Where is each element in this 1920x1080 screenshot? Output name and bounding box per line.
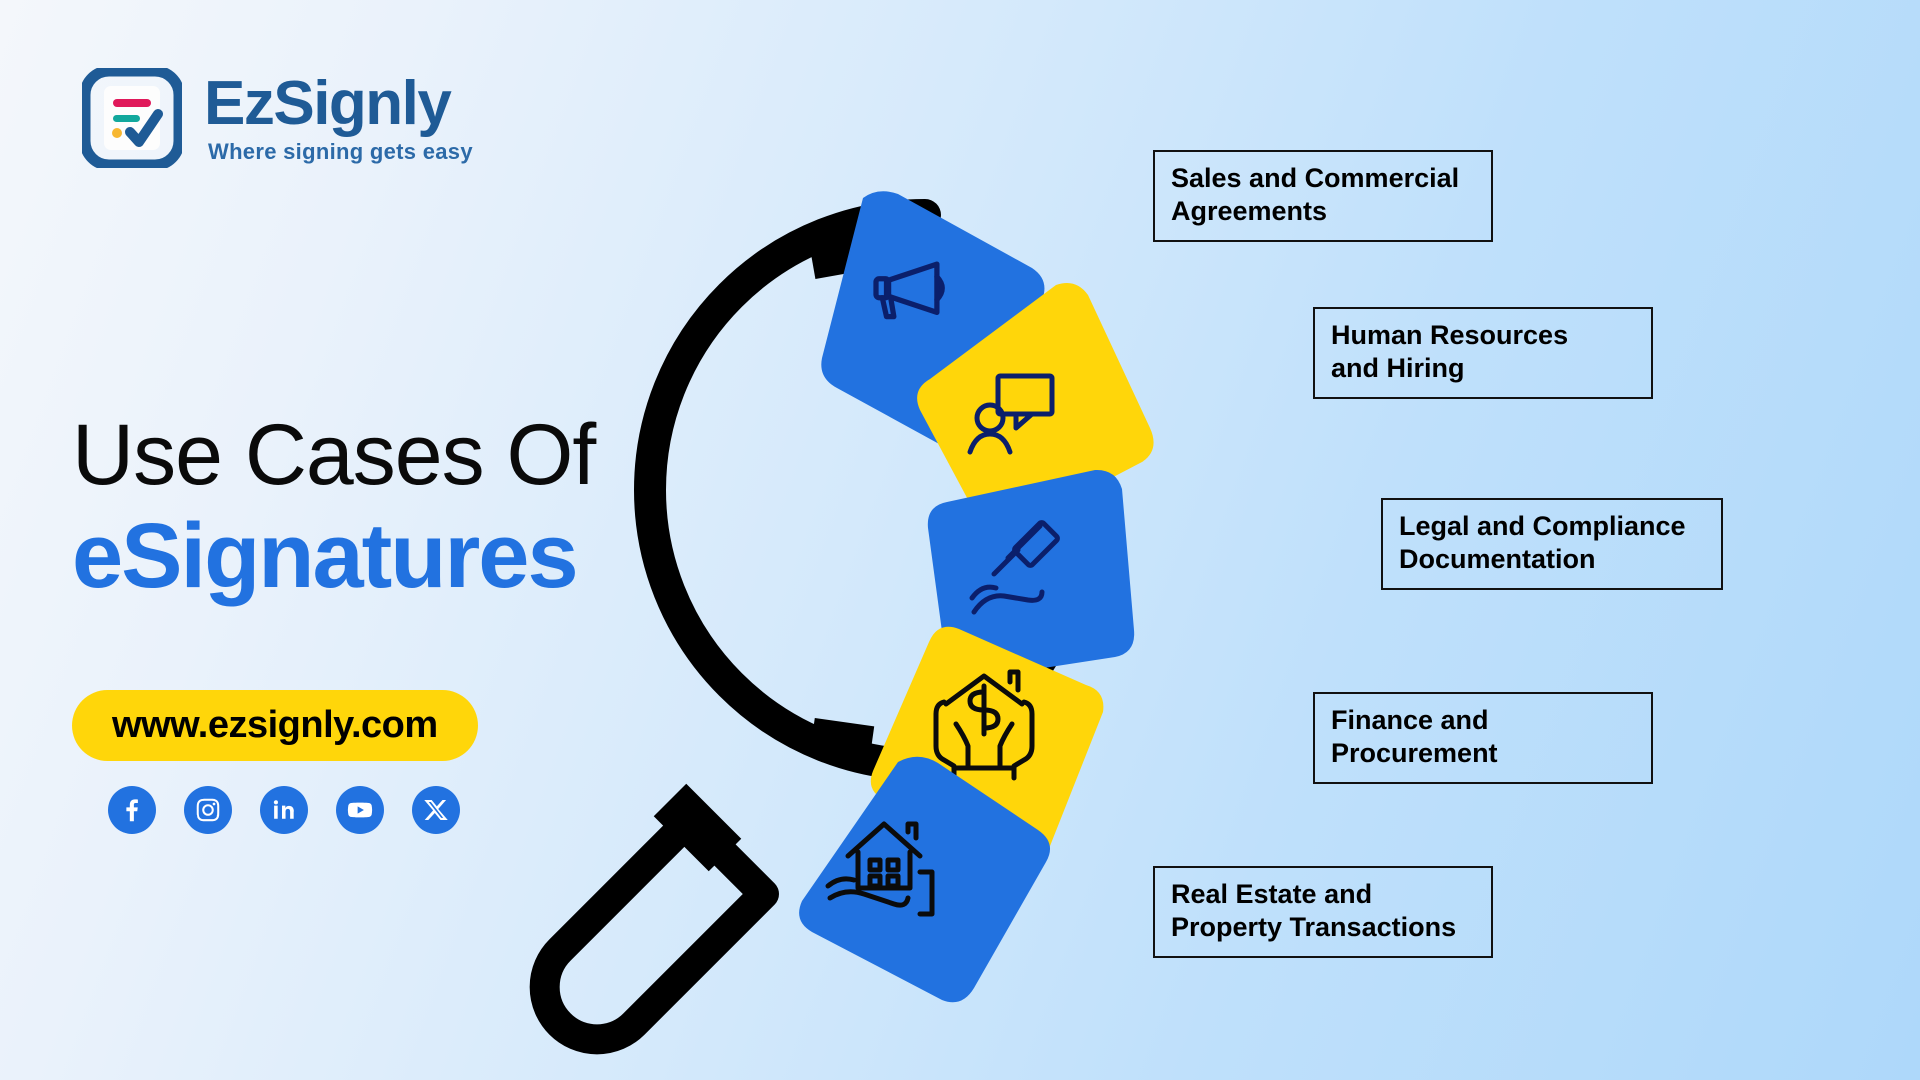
headline-line-1: Use Cases Of: [72, 410, 595, 500]
brand-logo[interactable]: EzSignly Where signing gets easy: [82, 68, 473, 168]
page-title: Use Cases Of eSignatures: [72, 410, 595, 605]
linkedin-icon[interactable]: [260, 786, 308, 834]
label-human-resources[interactable]: Human Resources and Hiring: [1313, 307, 1653, 399]
instagram-icon[interactable]: [184, 786, 232, 834]
website-url-button[interactable]: www.ezsignly.com: [72, 690, 478, 761]
headline-line-2: eSignatures: [72, 508, 595, 605]
label-legal-compliance[interactable]: Legal and Compliance Documentation: [1381, 498, 1723, 590]
facebook-icon[interactable]: [108, 786, 156, 834]
brand-tagline: Where signing gets easy: [208, 141, 473, 163]
x-twitter-icon[interactable]: [412, 786, 460, 834]
document-checkmark-icon: [82, 68, 182, 168]
label-real-estate[interactable]: Real Estate and Property Transactions: [1153, 866, 1493, 958]
label-finance-procurement[interactable]: Finance and Procurement: [1313, 692, 1653, 784]
magnifier-handle-icon: [545, 800, 764, 1039]
brand-wordmark: EzSignly: [204, 73, 473, 135]
youtube-icon[interactable]: [336, 786, 384, 834]
label-sales-commercial[interactable]: Sales and Commercial Agreements: [1153, 150, 1493, 242]
social-links: [108, 786, 460, 834]
